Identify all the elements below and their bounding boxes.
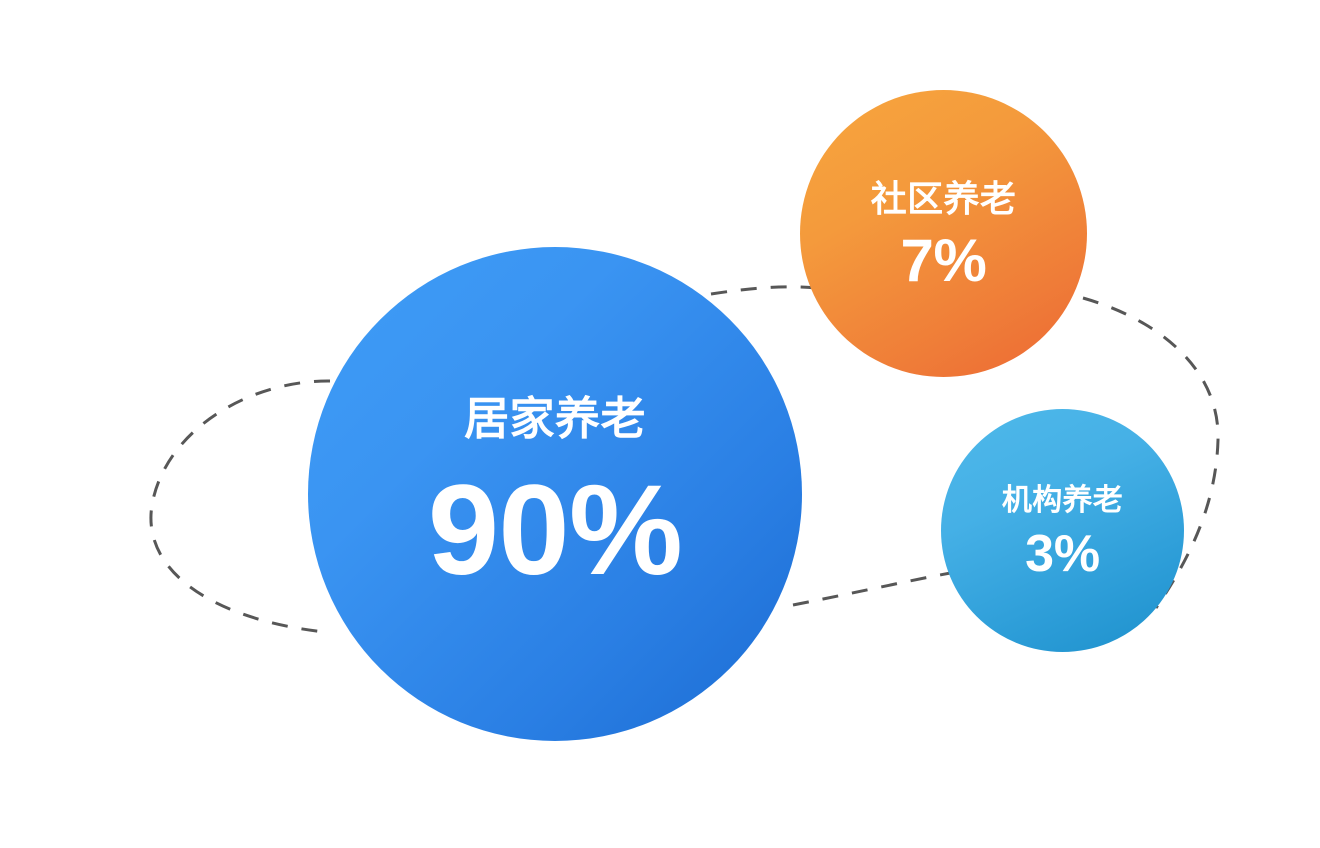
bubble-home-care-label: 居家养老 [464,396,646,441]
connector-home-to-community [711,287,816,294]
connector-home-to-institution [793,570,967,605]
bubble-institutional-care-label: 机构养老 [1002,486,1123,516]
orbit-path-left [151,381,330,632]
bubble-home-care-value: 90% [428,467,682,595]
bubble-community-care-value: 7% [900,231,986,291]
bubble-institutional-care[interactable]: 机构养老 3% [941,409,1184,652]
bubble-community-care-label: 社区养老 [871,181,1016,217]
bubble-community-care[interactable]: 社区养老 7% [800,90,1087,377]
bubble-home-care[interactable]: 居家养老 90% [308,247,802,741]
bubble-institutional-care-value: 3% [1025,528,1100,580]
infographic-canvas: 居家养老 90% 社区养老 7% 机构养老 3% [0,0,1320,848]
